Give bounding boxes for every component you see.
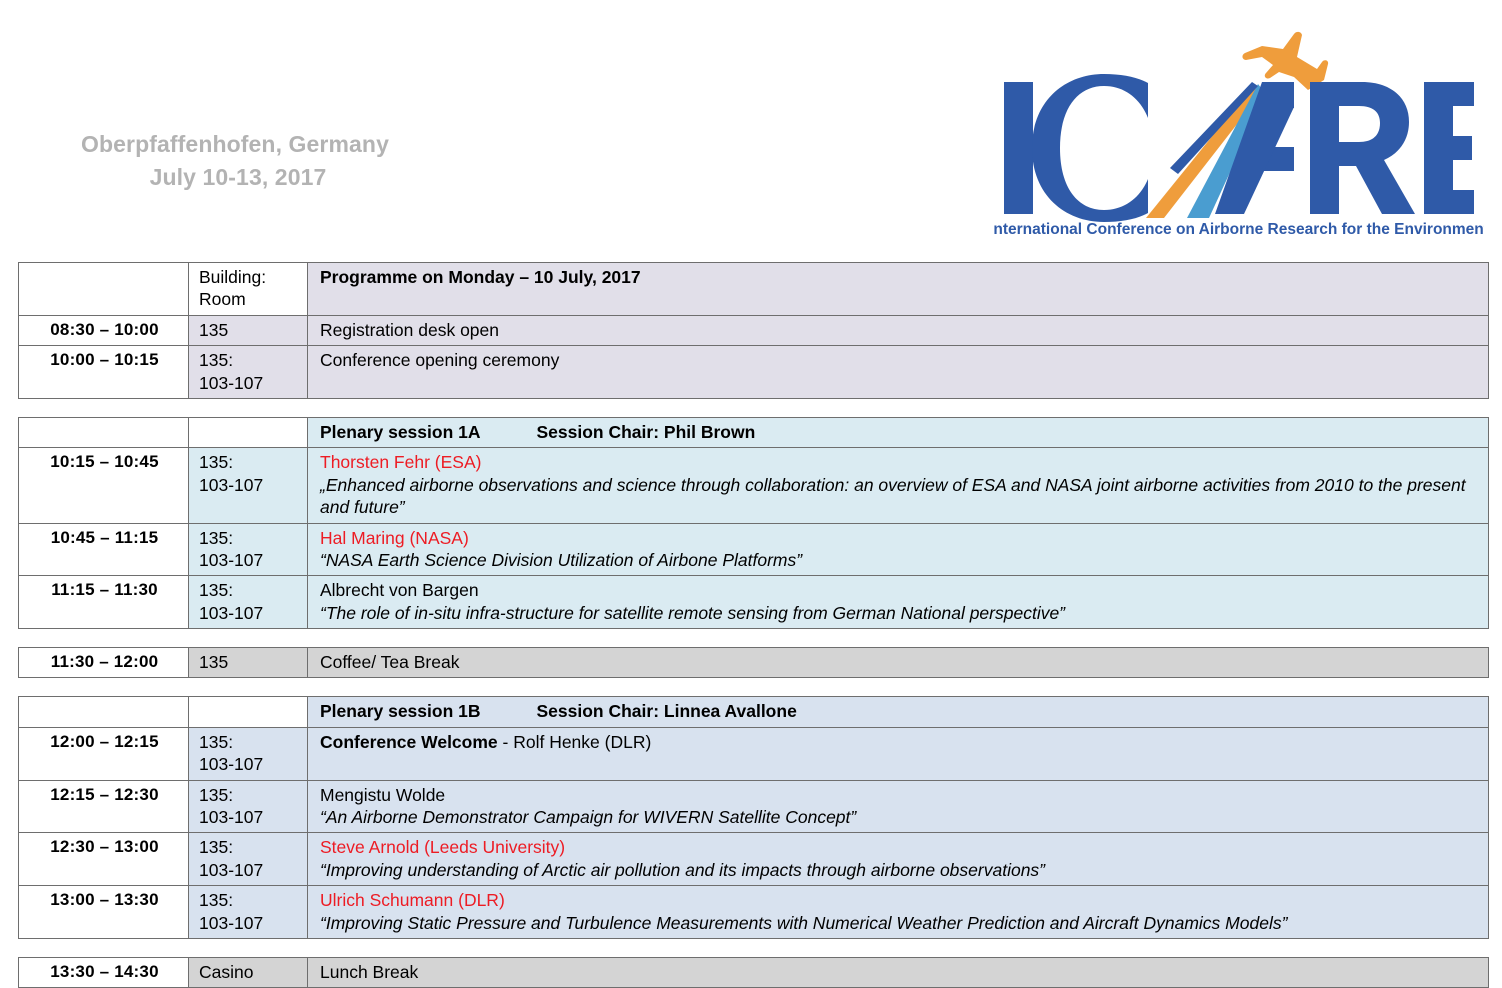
page-header: Oberpfaffenhofen, Germany July 10-13, 20… [0,0,1502,262]
table-row: 11:30 – 12:00 135 Coffee/ Tea Break [19,648,1489,678]
row-text: Coffee/ Tea Break [308,648,1489,678]
venue-block: Oberpfaffenhofen, Germany July 10-13, 20… [0,128,470,193]
session-1b-header-time-cell [19,697,189,727]
venue-location: Oberpfaffenhofen, Germany [0,128,470,161]
row-text: Registration desk open [308,315,1489,345]
table-row: 10:00 – 10:15 135: 103-107 Conference op… [19,346,1489,399]
talk-title: “NASA Earth Science Division Utilization… [320,549,1482,571]
row-time: 12:15 – 12:30 [19,780,189,833]
row-talk-cell: Hal Maring (NASA) “NASA Earth Science Di… [308,523,1489,576]
session-1b-chair: Session Chair: Linnea Avallone [537,700,797,722]
session-1a-header-room-cell [189,417,308,447]
speaker-name: Mengistu Wolde [320,784,1482,806]
icare-tagline: International Conference on Airborne Res… [994,221,1484,238]
building-room-column-header: Building: Room [189,263,308,316]
intro-table: Building: Room Programme on Monday – 10 … [18,262,1489,399]
row-time: 13:30 – 14:30 [19,957,189,987]
row-room: 135 [189,315,308,345]
session-1b-header: Plenary session 1BSession Chair: Linnea … [308,697,1489,727]
session-1a-header-row: Plenary session 1ASession Chair: Phil Br… [19,417,1489,447]
talk-title: “Improving understanding of Arctic air p… [320,859,1482,881]
table-row: 08:30 – 10:00 135 Registration desk open [19,315,1489,345]
table-row: 10:45 – 11:15 135: 103-107 Hal Maring (N… [19,523,1489,576]
row-room: 135: 103-107 [189,727,308,780]
talk-title: “An Airborne Demonstrator Campaign for W… [320,806,1482,828]
row-time: 11:15 – 11:30 [19,576,189,629]
row-time: 10:45 – 11:15 [19,523,189,576]
table-row: 12:15 – 12:30 135: 103-107 Mengistu Wold… [19,780,1489,833]
intro-header-row: Building: Room Programme on Monday – 10 … [19,263,1489,316]
speaker-name: Thorsten Fehr (ESA) [320,451,1482,473]
session-1a-table: Plenary session 1ASession Chair: Phil Br… [18,417,1489,629]
venue-dates: July 10-13, 2017 [0,161,470,194]
table-row: 12:30 – 13:00 135: 103-107 Steve Arnold … [19,833,1489,886]
row-room: 135: 103-107 [189,833,308,886]
table-row: 13:30 – 14:30 Casino Lunch Break [19,957,1489,987]
conference-welcome-cell: Conference Welcome - Rolf Henke (DLR) [308,727,1489,780]
row-talk-cell: Mengistu Wolde “An Airborne Demonstrator… [308,780,1489,833]
row-text: Lunch Break [308,957,1489,987]
session-1b-header-room-cell [189,697,308,727]
row-room: 135: 103-107 [189,448,308,523]
row-talk-cell: Albrecht von Bargen “The role of in-situ… [308,576,1489,629]
row-room: 135: 103-107 [189,576,308,629]
icare-logo: International Conference on Airborne Res… [994,22,1484,240]
table-row: 12:00 – 12:15 135: 103-107 Conference We… [19,727,1489,780]
session-1a-title: Plenary session 1A [320,422,481,442]
row-time: 10:15 – 10:45 [19,448,189,523]
row-room: 135 [189,648,308,678]
row-talk-cell: Thorsten Fehr (ESA) „Enhanced airborne o… [308,448,1489,523]
speaker-name: Albrecht von Bargen [320,579,1482,601]
conference-welcome-speaker: - Rolf Henke (DLR) [498,732,652,752]
lunch-break-table: 13:30 – 14:30 Casino Lunch Break [18,957,1489,988]
programme-title: Programme on Monday – 10 July, 2017 [308,263,1489,316]
row-room: Casino [189,957,308,987]
table-row: 11:15 – 11:30 135: 103-107 Albrecht von … [19,576,1489,629]
session-1b-title: Plenary session 1B [320,701,481,721]
conference-welcome-label: Conference Welcome [320,732,498,752]
row-time: 10:00 – 10:15 [19,346,189,399]
session-1b-header-row: Plenary session 1BSession Chair: Linnea … [19,697,1489,727]
talk-title: „Enhanced airborne observations and scie… [320,474,1482,519]
speaker-name: Steve Arnold (Leeds University) [320,836,1482,858]
row-time: 12:30 – 13:00 [19,833,189,886]
row-time: 12:00 – 12:15 [19,727,189,780]
session-1b-table: Plenary session 1BSession Chair: Linnea … [18,696,1489,939]
speaker-name: Ulrich Schumann (DLR) [320,889,1482,911]
icare-logo-svg: International Conference on Airborne Res… [994,22,1484,240]
coffee-break-table: 11:30 – 12:00 135 Coffee/ Tea Break [18,647,1489,678]
session-1a-header-time-cell [19,417,189,447]
intro-header-time-cell [19,263,189,316]
row-room: 135: 103-107 [189,346,308,399]
airplane-icon [1242,32,1328,90]
table-row: 10:15 – 10:45 135: 103-107 Thorsten Fehr… [19,448,1489,523]
session-1a-chair: Session Chair: Phil Brown [537,421,756,443]
row-time: 08:30 – 10:00 [19,315,189,345]
row-text: Conference opening ceremony [308,346,1489,399]
row-room: 135: 103-107 [189,780,308,833]
session-1a-header: Plenary session 1ASession Chair: Phil Br… [308,417,1489,447]
talk-title: “The role of in-situ infra-structure for… [320,602,1482,624]
row-time: 11:30 – 12:00 [19,648,189,678]
row-talk-cell: Steve Arnold (Leeds University) “Improvi… [308,833,1489,886]
speaker-name: Hal Maring (NASA) [320,527,1482,549]
row-room: 135: 103-107 [189,523,308,576]
